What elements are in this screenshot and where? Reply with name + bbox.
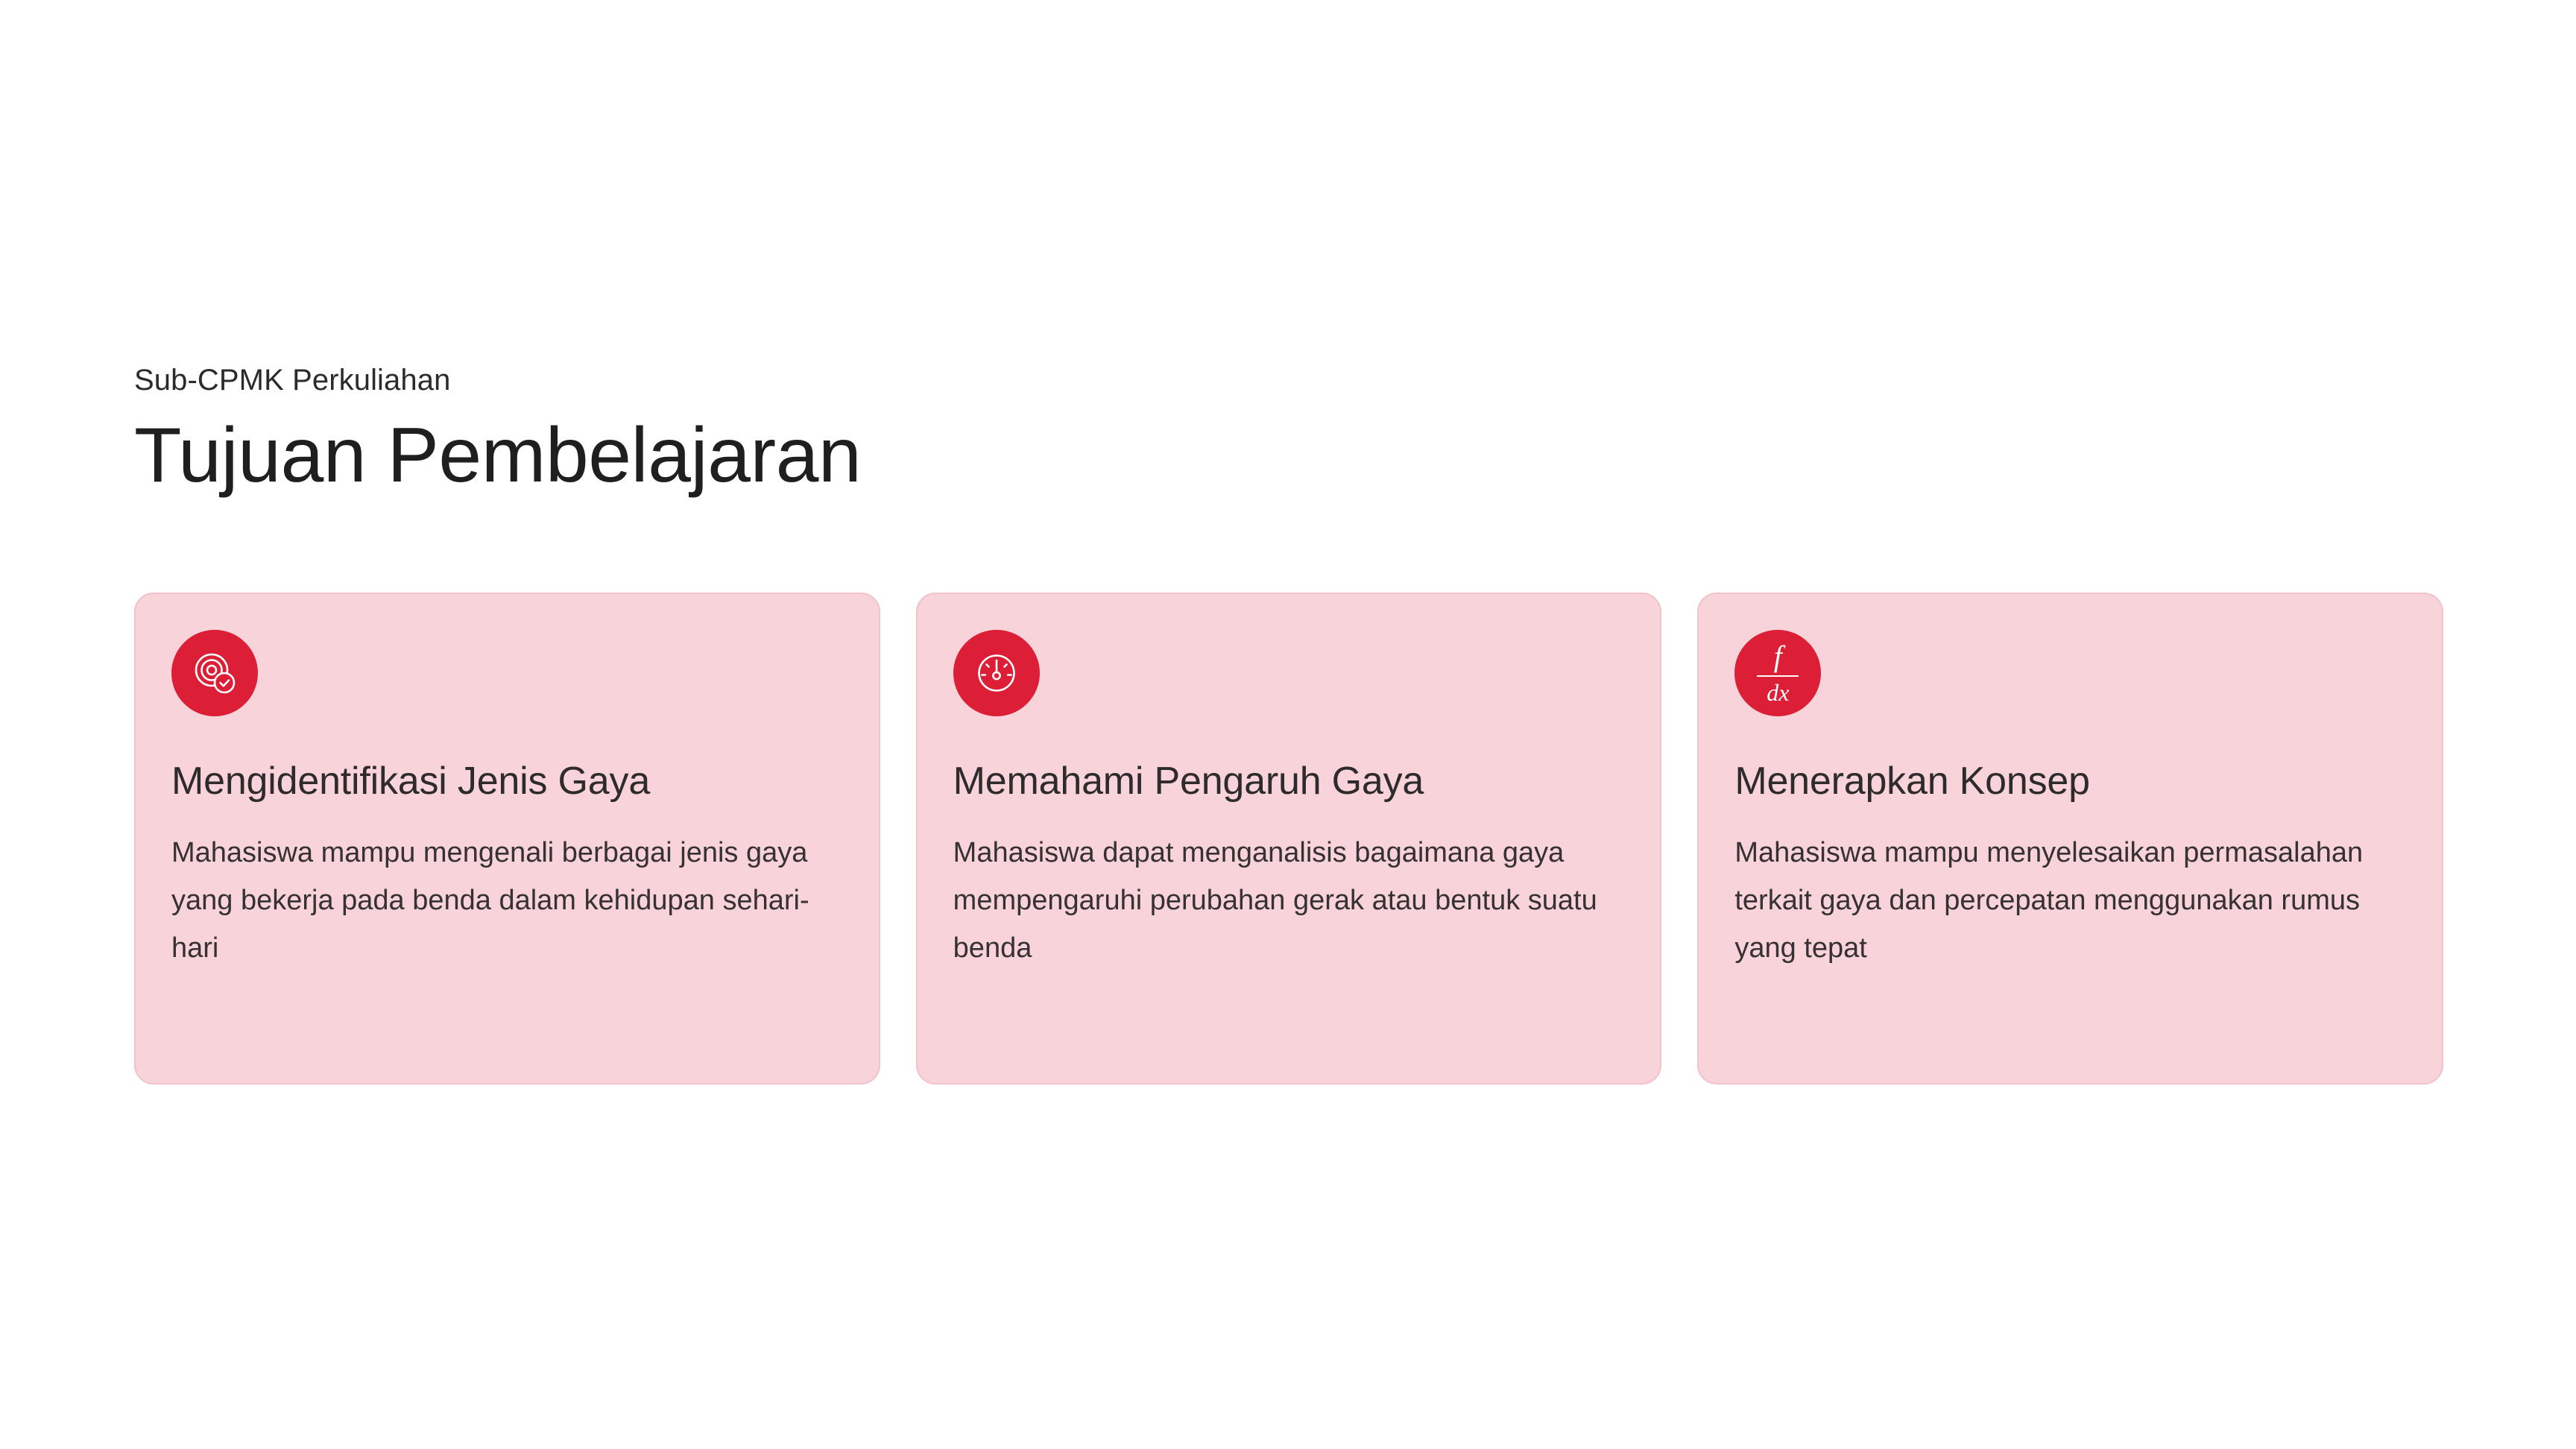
gauge-icon-badge	[953, 630, 1040, 716]
slide-header: Sub-CPMK Perkuliahan Tujuan Pembelajaran	[134, 362, 2445, 499]
target-check-icon	[192, 650, 238, 696]
target-check-icon-badge	[171, 630, 258, 716]
slide-canvas: Sub-CPMK Perkuliahan Tujuan Pembelajaran…	[0, 0, 2576, 1449]
derivative-formula-icon-badge: f dx	[1734, 630, 1821, 716]
objective-card-description: Mahasiswa mampu mengenali berbagai jenis…	[171, 830, 843, 972]
objective-card-title: Memahami Pengaruh Gaya	[953, 758, 1625, 804]
formula-numerator: f	[1757, 642, 1799, 675]
objective-card[interactable]: f dx Menerapkan Konsep Mahasiswa mampu m…	[1697, 593, 2443, 1085]
objective-card-description: Mahasiswa dapat menganalisis bagaimana g…	[953, 830, 1625, 972]
objective-card-title: Mengidentifikasi Jenis Gaya	[171, 758, 843, 804]
objective-card-title: Menerapkan Konsep	[1734, 758, 2406, 804]
learning-objectives-card-row: Mengidentifikasi Jenis Gaya Mahasiswa ma…	[134, 593, 2443, 1085]
derivative-formula-icon: f dx	[1757, 642, 1799, 704]
objective-card[interactable]: Memahami Pengaruh Gaya Mahasiswa dapat m…	[916, 593, 1662, 1085]
objective-card-description: Mahasiswa mampu menyelesaikan permasalah…	[1734, 830, 2406, 972]
page-title: Tujuan Pembelajaran	[134, 412, 2445, 499]
objective-card[interactable]: Mengidentifikasi Jenis Gaya Mahasiswa ma…	[134, 593, 880, 1085]
gauge-icon	[973, 650, 1020, 696]
eyebrow-label: Sub-CPMK Perkuliahan	[134, 362, 2445, 399]
formula-denominator: dx	[1757, 677, 1799, 704]
